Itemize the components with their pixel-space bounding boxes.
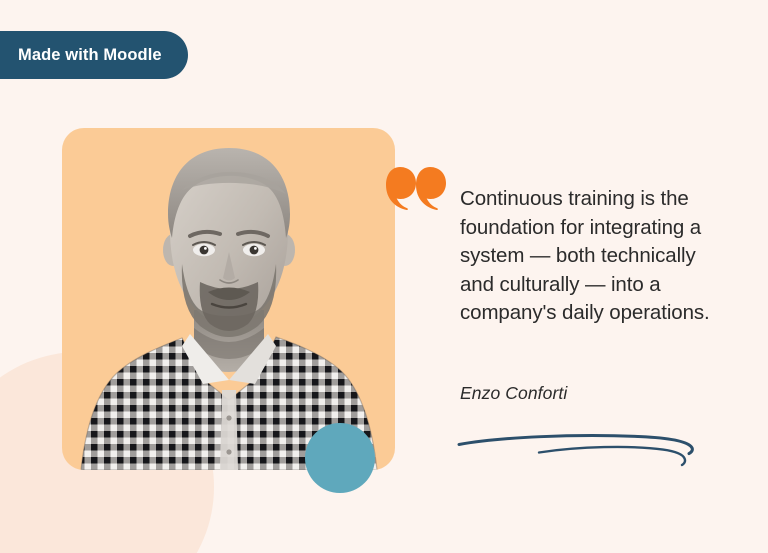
quotation-mark-icon xyxy=(385,165,447,211)
quote-author: Enzo Conforti xyxy=(460,383,567,404)
quote-text: Continuous training is the foundation fo… xyxy=(460,185,722,328)
underline-flourish xyxy=(455,430,700,472)
decorative-circle-teal xyxy=(305,423,375,493)
portrait-card xyxy=(62,128,395,470)
made-with-moodle-badge-label: Made with Moodle xyxy=(18,46,162,65)
portrait-photo xyxy=(78,132,380,470)
made-with-moodle-badge: Made with Moodle xyxy=(0,31,188,79)
testimonial-slide: Made with Moodle xyxy=(0,0,768,553)
